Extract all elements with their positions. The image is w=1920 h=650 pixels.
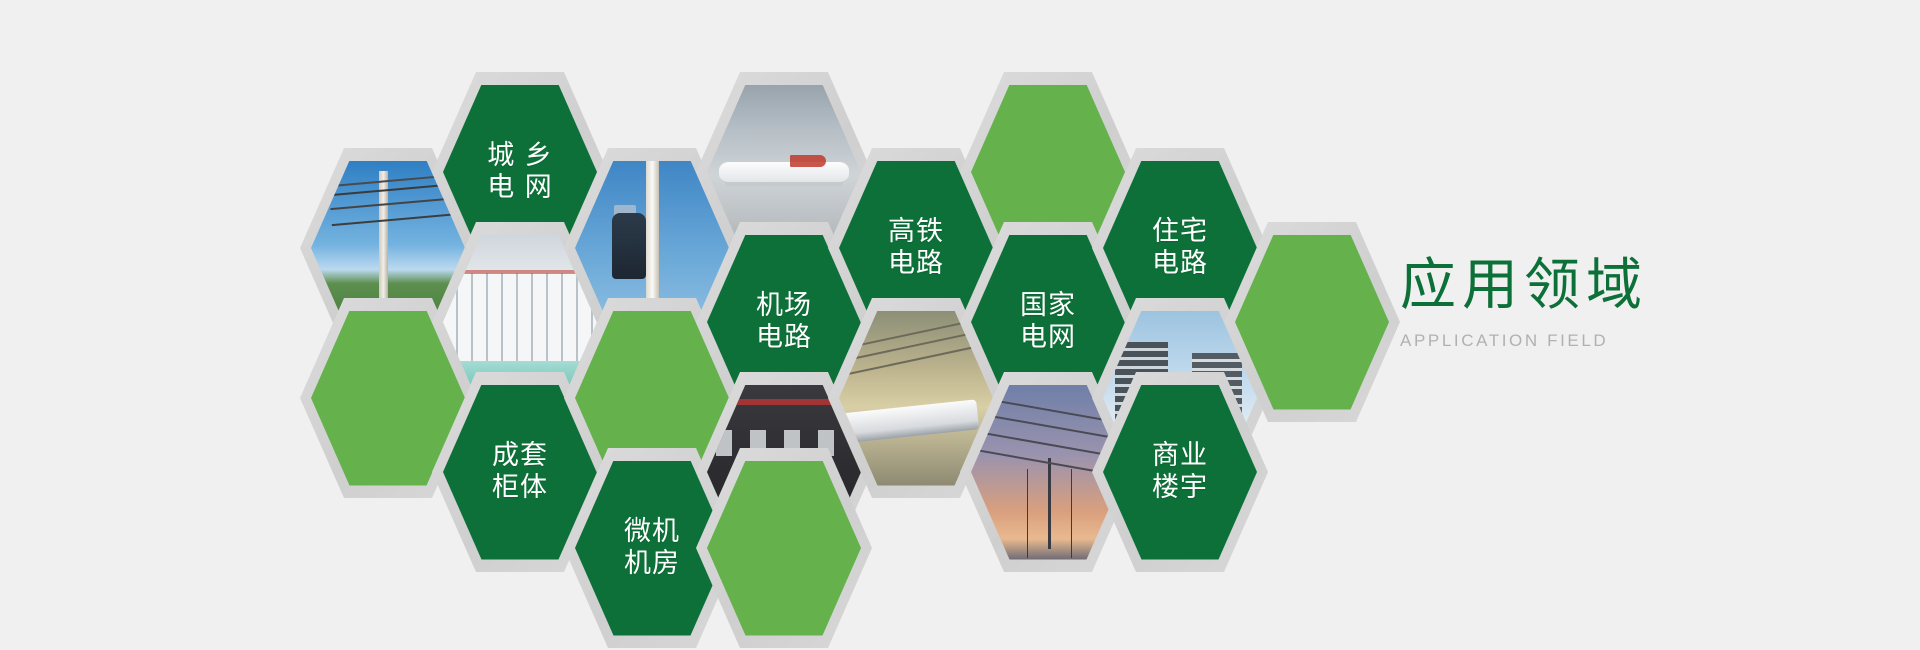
heading-block: 应用领域 APPLICATION FIELD — [1400, 255, 1820, 351]
hex-label-hsr-circuit: 高铁 电路 — [888, 216, 944, 280]
hex-inner — [1235, 235, 1389, 410]
hex-label-residential-circuit: 住宅 电路 — [1152, 216, 1208, 280]
application-field-banner: 城 乡 电 网 成套 柜体 微机 机房 — [0, 0, 1920, 650]
hex-label-microcomputer-room: 微机 机房 — [624, 516, 680, 580]
hex-label-urban-rural-grid: 城 乡 电 网 — [487, 140, 553, 204]
hex-label-state-grid: 国家 电网 — [1020, 290, 1076, 354]
hex-inner — [707, 461, 861, 636]
hex-inner: 商业 楼宇 — [1103, 385, 1257, 560]
hex-label-commercial-building: 商业 楼宇 — [1152, 440, 1208, 504]
hex-label-complete-cabinet: 成套 柜体 — [492, 440, 548, 504]
page-subtitle: APPLICATION FIELD — [1400, 331, 1820, 351]
page-title: 应用领域 — [1400, 255, 1820, 317]
hex-label-airport-circuit: 机场 电路 — [756, 290, 812, 354]
